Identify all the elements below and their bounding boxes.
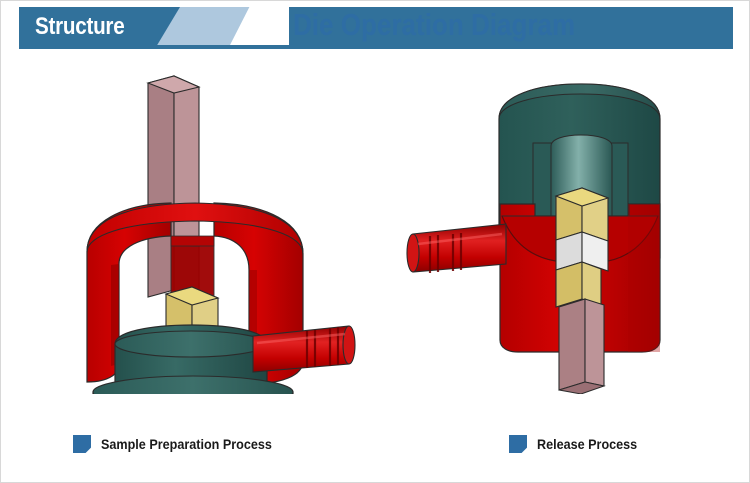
- caption-label: Sample Preparation Process: [101, 436, 272, 452]
- page-title: Die Operation Diagram: [293, 5, 646, 45]
- caption-label: Release Process: [537, 436, 637, 452]
- caption-sample-preparation-process: Sample Preparation Process: [73, 434, 291, 454]
- header-underline: [19, 45, 733, 49]
- red-locking-pin: [407, 224, 506, 273]
- caption-bullet-icon: [509, 435, 527, 453]
- lower-punch-rod: [559, 299, 604, 394]
- page-header: Structure Die Operation Diagram: [1, 1, 750, 51]
- structure-label: Structure: [35, 10, 147, 44]
- caption-bullet-icon: [73, 435, 91, 453]
- caption-release-process: Release Process: [509, 434, 648, 454]
- release-process-diagram: [396, 64, 696, 394]
- diagram-area: [1, 56, 750, 426]
- sample-preparation-diagram: [71, 64, 371, 394]
- lower-gold-die: [556, 262, 601, 307]
- die-operation-diagram-page: Structure Die Operation Diagram: [0, 0, 750, 483]
